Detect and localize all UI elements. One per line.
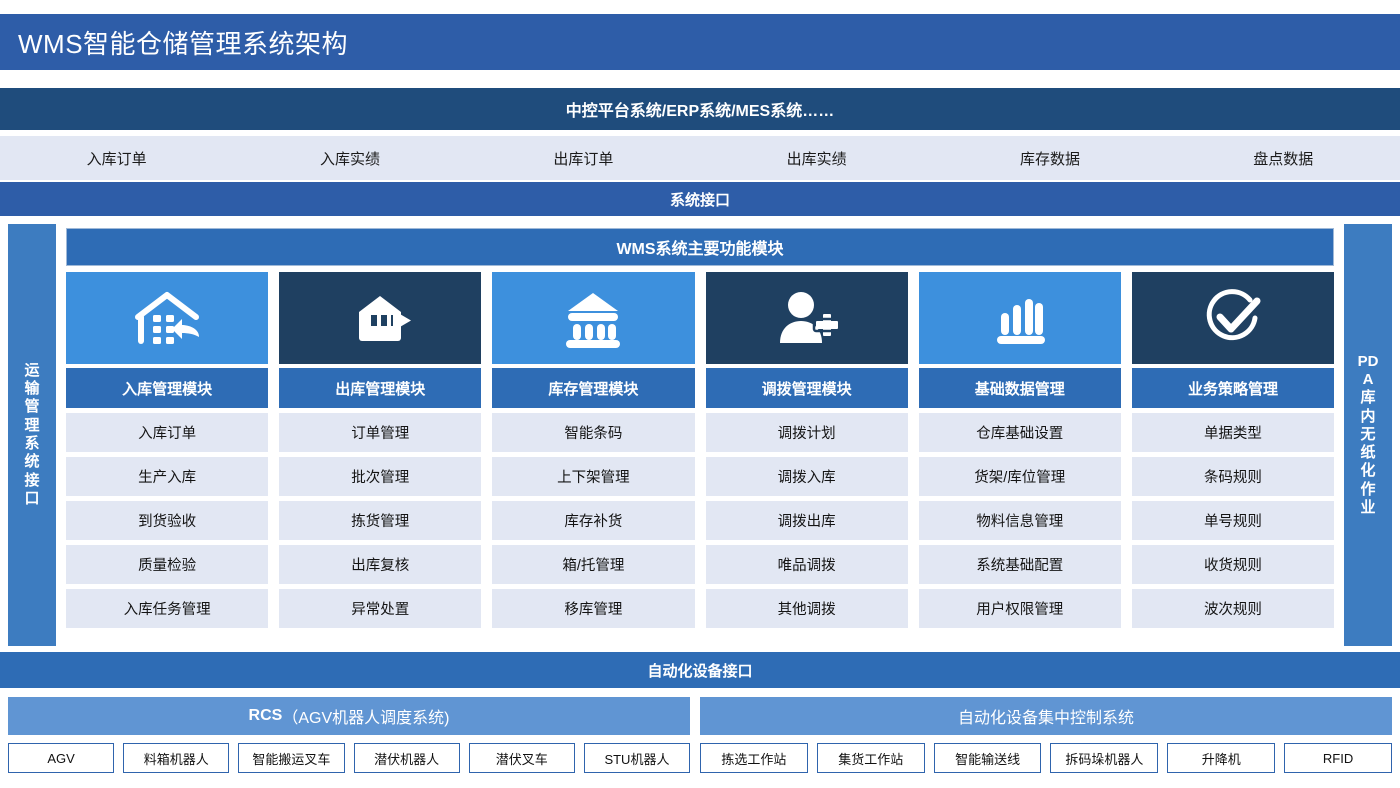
device-chip[interactable]: 拣选工作站	[700, 743, 808, 773]
module-column-transfer: 调拨管理模块 调拨计划 调拨入库 调拨出库 唯品调拨 其他调拨	[706, 272, 908, 646]
module-item[interactable]: 上下架管理	[492, 457, 694, 496]
host-systems-bar: 中控平台系统/ERP系统/MES系统……	[0, 88, 1400, 130]
data-item: 库存数据	[933, 148, 1166, 169]
transport-interface-label: 运输管理系统接口	[21, 362, 43, 508]
automation-interface-bar: 自动化设备接口	[0, 652, 1400, 688]
data-item: 出库订单	[467, 148, 700, 169]
system-interface-label: 系统接口	[670, 189, 730, 210]
module-item[interactable]: 收货规则	[1132, 545, 1334, 584]
automation-groups: RCS （AGV机器人调度系统) AGV 料箱机器人 智能搬运叉车 潜伏机器人 …	[0, 697, 1400, 788]
module-column-business-policy: 业务策略管理 单据类型 条码规则 单号规则 收货规则 波次规则	[1132, 272, 1334, 646]
modules-header-label: WMS系统主要功能模块	[616, 235, 783, 259]
module-item[interactable]: 调拨出库	[706, 501, 908, 540]
data-item: 出库实绩	[700, 148, 933, 169]
rcs-title-rest: （AGV机器人调度系统)	[282, 704, 449, 728]
rcs-title-bold: RCS	[249, 707, 283, 725]
data-exchange-row: 入库订单 入库实绩 出库订单 出库实绩 库存数据 盘点数据	[0, 136, 1400, 180]
bar-chart-icon	[989, 289, 1051, 347]
module-columns: 入库管理模块 入库订单 生产入库 到货验收 质量检验 入库任务管理	[66, 272, 1334, 646]
module-title: 调拨管理模块	[706, 368, 908, 408]
module-item[interactable]: 其他调拨	[706, 589, 908, 628]
module-item[interactable]: 入库任务管理	[66, 589, 268, 628]
module-column-outbound: 出库管理模块 订单管理 批次管理 拣货管理 出库复核 异常处置	[279, 272, 481, 646]
module-item[interactable]: 订单管理	[279, 413, 481, 452]
module-item[interactable]: 单号规则	[1132, 501, 1334, 540]
device-chip[interactable]: 料箱机器人	[123, 743, 229, 773]
device-chip[interactable]: 潜伏机器人	[354, 743, 460, 773]
module-item[interactable]: 仓库基础设置	[919, 413, 1121, 452]
core-modules-section: 运输管理系统接口 PDA库内无纸化作业 WMS系统主要功能模块	[0, 224, 1400, 646]
warehouse-outbound-icon	[343, 288, 417, 348]
device-chip[interactable]: 智能搬运叉车	[238, 743, 344, 773]
device-chip[interactable]: 智能输送线	[934, 743, 1042, 773]
module-item[interactable]: 到货验收	[66, 501, 268, 540]
rcs-group-title: RCS （AGV机器人调度系统)	[8, 697, 690, 735]
acs-title-rest: 自动化设备集中控制系统	[958, 704, 1134, 728]
module-item[interactable]: 异常处置	[279, 589, 481, 628]
module-icon-container	[1132, 272, 1334, 364]
module-item[interactable]: 系统基础配置	[919, 545, 1121, 584]
host-systems-label: 中控平台系统/ERP系统/MES系统……	[566, 97, 834, 121]
module-item[interactable]: 波次规则	[1132, 589, 1334, 628]
automation-interface-label: 自动化设备接口	[647, 660, 752, 681]
user-add-icon	[773, 288, 841, 348]
rcs-device-chips: AGV 料箱机器人 智能搬运叉车 潜伏机器人 潜伏叉车 STU机器人	[8, 743, 690, 773]
module-title: 库存管理模块	[492, 368, 694, 408]
module-item[interactable]: 唯品调拨	[706, 545, 908, 584]
data-item: 盘点数据	[1167, 148, 1400, 169]
device-chip[interactable]: 集货工作站	[817, 743, 925, 773]
bank-building-icon	[558, 287, 628, 349]
module-item[interactable]: 调拨计划	[706, 413, 908, 452]
module-title: 业务策略管理	[1132, 368, 1334, 408]
module-item[interactable]: 单据类型	[1132, 413, 1334, 452]
acs-group: 自动化设备集中控制系统 拣选工作站 集货工作站 智能输送线 拆码垛机器人 升降机…	[700, 697, 1392, 773]
module-title: 入库管理模块	[66, 368, 268, 408]
module-icon-container	[706, 272, 908, 364]
module-title: 基础数据管理	[919, 368, 1121, 408]
module-icon-container	[66, 272, 268, 364]
module-column-basic-data: 基础数据管理 仓库基础设置 货架/库位管理 物料信息管理 系统基础配置 用户权限…	[919, 272, 1121, 646]
pda-sidebar-label: PDA库内无纸化作业	[1357, 353, 1379, 518]
module-icon-container	[492, 272, 694, 364]
page-title: WMS智能仓储管理系统架构	[18, 24, 348, 61]
modules-container: WMS系统主要功能模块	[66, 224, 1334, 646]
module-item[interactable]: 用户权限管理	[919, 589, 1121, 628]
data-item: 入库实绩	[233, 148, 466, 169]
module-item[interactable]: 货架/库位管理	[919, 457, 1121, 496]
pda-sidebar: PDA库内无纸化作业	[1344, 224, 1392, 646]
page-title-bar: WMS智能仓储管理系统架构	[0, 14, 1400, 70]
module-icon-container	[279, 272, 481, 364]
warehouse-inbound-icon	[128, 287, 206, 349]
module-item[interactable]: 调拨入库	[706, 457, 908, 496]
device-chip[interactable]: AGV	[8, 743, 114, 773]
system-interface-bar: 系统接口	[0, 182, 1400, 216]
device-chip[interactable]: 拆码垛机器人	[1050, 743, 1158, 773]
module-title: 出库管理模块	[279, 368, 481, 408]
module-item[interactable]: 拣货管理	[279, 501, 481, 540]
data-item: 入库订单	[0, 148, 233, 169]
transport-interface-sidebar: 运输管理系统接口	[8, 224, 56, 646]
module-item[interactable]: 库存补货	[492, 501, 694, 540]
module-item[interactable]: 移库管理	[492, 589, 694, 628]
module-item[interactable]: 生产入库	[66, 457, 268, 496]
acs-device-chips: 拣选工作站 集货工作站 智能输送线 拆码垛机器人 升降机 RFID	[700, 743, 1392, 773]
device-chip[interactable]: RFID	[1284, 743, 1392, 773]
module-item[interactable]: 箱/托管理	[492, 545, 694, 584]
device-chip[interactable]: 升降机	[1167, 743, 1275, 773]
module-item[interactable]: 出库复核	[279, 545, 481, 584]
module-icon-container	[919, 272, 1121, 364]
module-item[interactable]: 物料信息管理	[919, 501, 1121, 540]
module-item[interactable]: 智能条码	[492, 413, 694, 452]
acs-group-title: 自动化设备集中控制系统	[700, 697, 1392, 735]
device-chip[interactable]: STU机器人	[584, 743, 690, 773]
rcs-group: RCS （AGV机器人调度系统) AGV 料箱机器人 智能搬运叉车 潜伏机器人 …	[8, 697, 690, 773]
module-column-inbound: 入库管理模块 入库订单 生产入库 到货验收 质量检验 入库任务管理	[66, 272, 268, 646]
module-column-inventory: 库存管理模块 智能条码 上下架管理 库存补货 箱/托管理 移库管理	[492, 272, 694, 646]
module-item[interactable]: 批次管理	[279, 457, 481, 496]
modules-header-bar: WMS系统主要功能模块	[66, 228, 1334, 266]
module-item[interactable]: 入库订单	[66, 413, 268, 452]
module-item[interactable]: 条码规则	[1132, 457, 1334, 496]
module-item[interactable]: 质量检验	[66, 545, 268, 584]
check-circle-icon	[1200, 286, 1266, 350]
device-chip[interactable]: 潜伏叉车	[469, 743, 575, 773]
